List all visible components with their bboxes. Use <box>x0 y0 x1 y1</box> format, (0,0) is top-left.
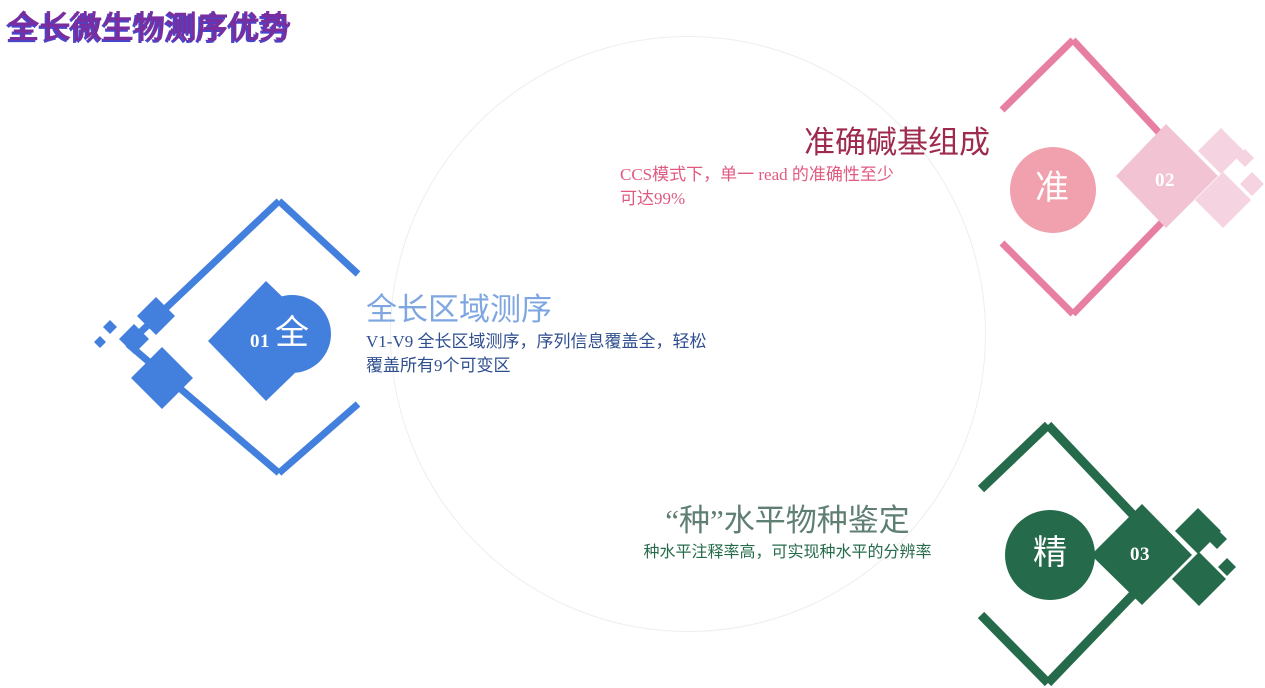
section-02-number: 02 <box>1155 171 1175 190</box>
section-02-body-line-2: 可达99% <box>620 187 990 212</box>
section-03-character: 精 <box>1033 537 1067 571</box>
section-02-text: 准确碱基组成 CCS模式下，单一 read 的准确性至少 可达99% <box>620 125 990 212</box>
section-03-graphic: 03 精 <box>975 415 1240 685</box>
section-01-graphic: 01 全 <box>86 196 361 476</box>
section-01-body-line-2: 覆盖所有9个可变区 <box>366 354 836 379</box>
section-02-heading: 准确碱基组成 <box>620 125 990 161</box>
section-01-heading: 全长区域测序 <box>366 292 836 328</box>
section-03-heading: “种”水平物种鉴定 <box>590 503 985 539</box>
section-03-number: 03 <box>1130 545 1150 564</box>
section-03-text: “种”水平物种鉴定 种水平注释率高，可实现种水平的分辨率 <box>590 503 985 564</box>
section-01-number: 01 <box>250 332 270 351</box>
page-title: 全长微生物测序优势 <box>8 2 292 47</box>
section-01-text: 全长区域测序 V1-V9 全长区域测序，序列信息覆盖全，轻松 覆盖所有9个可变区 <box>366 292 836 379</box>
section-03-body-line-1: 种水平注释率高，可实现种水平的分辨率 <box>590 541 985 564</box>
section-02-body-line-1: CCS模式下，单一 read 的准确性至少 <box>620 163 990 188</box>
section-02-graphic: 02 准 <box>995 28 1263 348</box>
section-01-body-line-1: V1-V9 全长区域测序，序列信息覆盖全，轻松 <box>366 330 836 355</box>
section-01-character: 全 <box>275 317 309 351</box>
section-02-character: 准 <box>1035 172 1069 206</box>
